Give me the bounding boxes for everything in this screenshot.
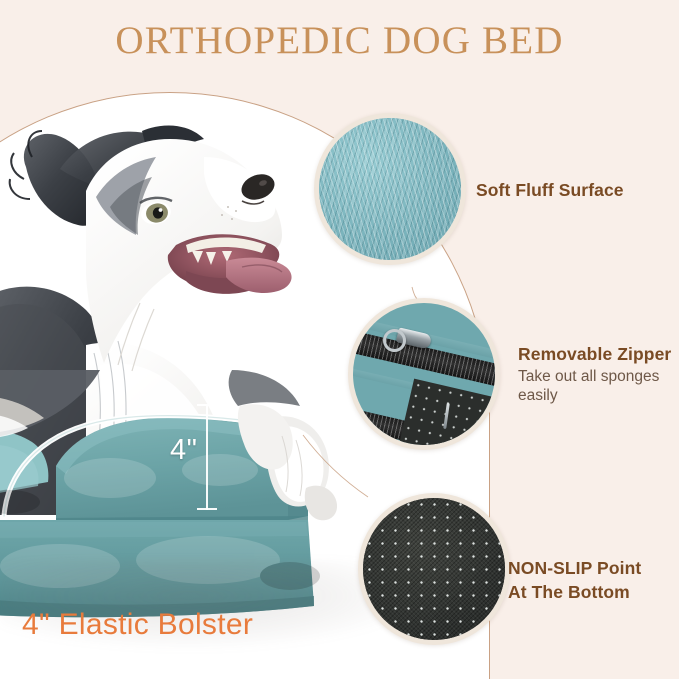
zipper-texture-fill xyxy=(353,303,495,445)
feature-label-grip: NON-SLIP Point At The Bottom xyxy=(508,557,641,604)
feature-label-zipper: Removable Zipper Take out all sponges ea… xyxy=(518,343,671,406)
bolster-caption: 4" Elastic Bolster xyxy=(22,608,253,642)
feature-title-grip-line2: At The Bottom xyxy=(508,581,641,605)
product-infographic: ORTHOPEDIC DOG BED xyxy=(0,0,679,679)
feature-label-fluff: Soft Fluff Surface xyxy=(476,179,624,203)
non-slip-dots-icon xyxy=(363,498,505,640)
feature-title-zipper: Removable Zipper xyxy=(518,343,671,367)
fluff-texture-icon xyxy=(319,118,461,260)
dimension-line xyxy=(206,404,208,510)
fluff-texture-fill xyxy=(319,118,461,260)
grip-texture-fill xyxy=(363,498,505,640)
dimension-cap-bottom xyxy=(197,508,217,510)
dimension-value: 4" xyxy=(170,434,197,467)
bolster-height-dimension: 4" xyxy=(186,404,232,510)
feature-swatch-fluff[interactable] xyxy=(314,113,466,265)
feature-swatch-zipper[interactable] xyxy=(348,298,500,450)
feature-subtitle-zipper-line1: Take out all sponges xyxy=(518,367,671,387)
feature-title-grip-line1: NON-SLIP Point xyxy=(508,557,641,581)
zipper-closeup-icon xyxy=(353,303,495,445)
feature-swatch-grip[interactable] xyxy=(358,493,510,645)
page-title: ORTHOPEDIC DOG BED xyxy=(0,18,679,63)
feature-title-fluff: Soft Fluff Surface xyxy=(476,179,624,203)
feature-subtitle-zipper-line2: easily xyxy=(518,386,671,406)
